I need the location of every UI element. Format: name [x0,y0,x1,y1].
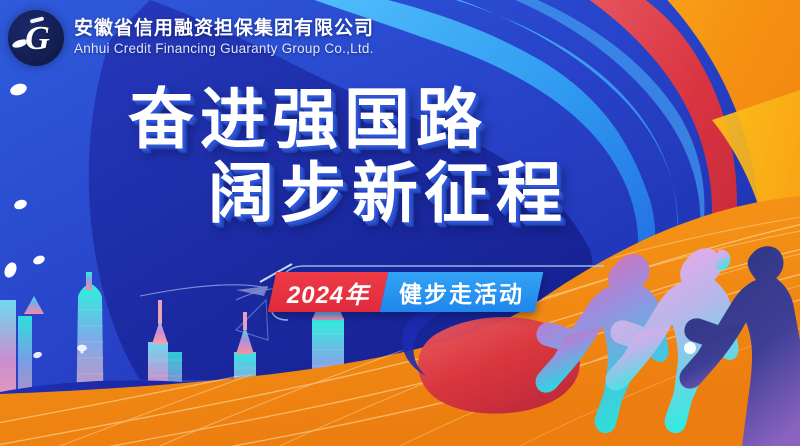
banner-event-text: 健步走活动 [399,275,524,309]
banner-event-segment: 健步走活动 [380,272,544,312]
banner-year-text: 2024年 [287,275,369,310]
company-logo-icon: G [8,10,64,66]
company-name-cn: 安徽省信用融资担保集团有限公司 [74,19,374,40]
banner-year-segment: 2024年 [268,272,389,312]
brand-text-group: 安徽省信用融资担保集团有限公司 Anhui Credit Financing G… [74,19,374,57]
brand-header: G 安徽省信用融资担保集团有限公司 Anhui Credit Financing… [8,10,374,66]
poster-background-art [0,0,800,446]
event-poster: G 安徽省信用融资担保集团有限公司 Anhui Credit Financing… [0,0,800,446]
logo-letter-g: G [9,11,65,67]
event-banner: 2024年 健步走活动 [268,272,544,312]
company-name-en: Anhui Credit Financing Guaranty Group Co… [74,42,374,57]
